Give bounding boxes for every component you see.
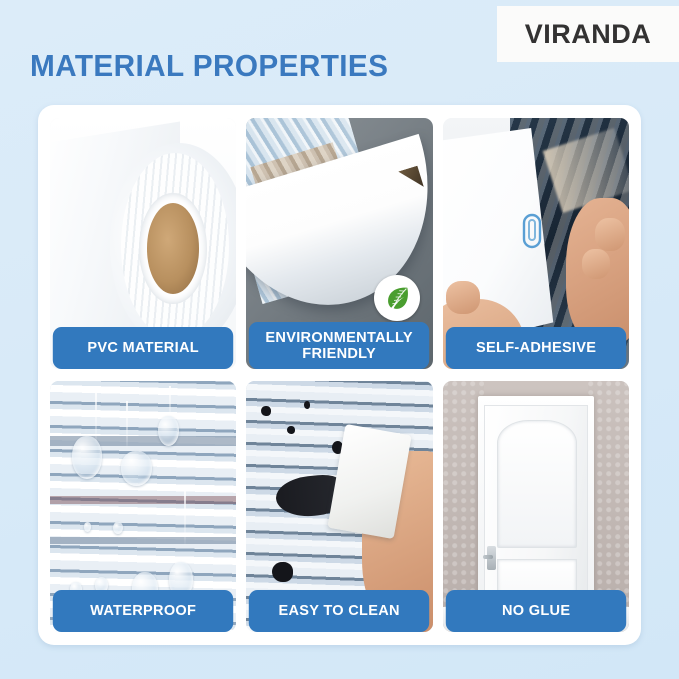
feature-label-environmentally-friendly: ENVIRONMENTALLY FRIENDLY <box>249 322 430 369</box>
feature-tile-self-adhesive[interactable]: SELF-ADHESIVE <box>443 118 629 369</box>
feature-label-no-glue: NO GLUE <box>445 590 626 632</box>
feature-label-self-adhesive: SELF-ADHESIVE <box>445 327 626 369</box>
feature-tile-pvc-material[interactable]: PVC MATERIAL <box>50 118 236 369</box>
brand-logo-box: VIRANDA <box>497 6 679 62</box>
feature-label-waterproof: WATERPROOF <box>53 590 234 632</box>
feature-tile-environmentally-friendly[interactable]: ENVIRONMENTALLY FRIENDLY <box>246 118 432 369</box>
page-title: MATERIAL PROPERTIES <box>30 48 388 84</box>
roll-core <box>147 203 199 293</box>
feature-label-pvc-material: PVC MATERIAL <box>53 327 234 369</box>
feature-tile-easy-to-clean[interactable]: EASY TO CLEAN <box>246 381 432 632</box>
feature-label-easy-to-clean: EASY TO CLEAN <box>249 590 430 632</box>
features-grid: PVC MATERIAL <box>50 118 629 632</box>
brand-name: VIRANDA <box>525 19 652 50</box>
feature-tile-waterproof[interactable]: WATERPROOF <box>50 381 236 632</box>
feature-tile-no-glue[interactable]: NO GLUE <box>443 381 629 632</box>
paperclip-icon <box>517 211 547 251</box>
door-handle-icon <box>487 546 496 571</box>
features-card: PVC MATERIAL <box>38 105 641 645</box>
green-leaf-icon <box>374 275 420 321</box>
